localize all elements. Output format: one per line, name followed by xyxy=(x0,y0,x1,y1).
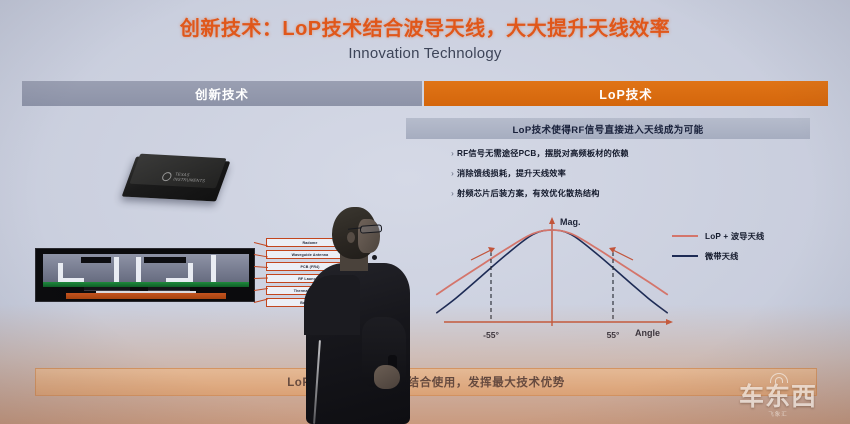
section-header-left-label: 创新技术 xyxy=(195,84,249,103)
presenter-ear xyxy=(347,232,355,243)
x-axis-label: Angle xyxy=(635,328,660,338)
list-item: › 消除馈线损耗，提升天线效率 xyxy=(448,168,788,179)
projector-warm-spill xyxy=(0,304,850,424)
beamwidth-arrow-left xyxy=(471,249,493,260)
beamwidth-arrowhead-left xyxy=(488,247,495,253)
x-tick-plus55: 55° xyxy=(607,330,620,340)
presenter-shoulder xyxy=(304,275,360,335)
watermark-sub: 飞象汇 xyxy=(726,410,830,418)
watermark-brand: 车东西 xyxy=(726,384,830,410)
slide-title-block: 创新技术：LoP技术结合波导天线，大大提升天线效率 Innovation Tec… xyxy=(0,12,850,62)
cavity-wall xyxy=(136,257,141,283)
legend-item-microstrip: 微带天线 xyxy=(672,250,802,262)
waveguide-slot xyxy=(144,257,186,263)
presenter-hand xyxy=(374,365,400,389)
list-item-label: RF信号无需途径PCB，摆脱对高频板材的依赖 xyxy=(457,148,629,159)
section-header-right: LoP技术 xyxy=(424,81,828,106)
antenna-radiation-pattern-chart: Mag. Angle -55° 55° xyxy=(430,208,680,348)
list-item: › RF信号无需途径PCB，摆脱对高频板材的依赖 xyxy=(448,148,788,159)
lop-subtitle-bar: LoP技术使得RF信号直接进入天线成为可能 xyxy=(406,118,810,139)
chevron-right-icon: › xyxy=(448,188,457,199)
beamwidth-arrow-right xyxy=(611,249,633,260)
projected-slide: 创新技术：LoP技术结合波导天线，大大提升天线效率 Innovation Tec… xyxy=(0,0,850,424)
x-axis-arrow xyxy=(666,319,673,325)
list-item: › 射频芯片后装方案，有效优化散热结构 xyxy=(448,188,788,199)
legend-swatch-lop xyxy=(672,235,698,237)
radar-module-cross-section xyxy=(35,248,255,302)
section-header-right-label: LoP技术 xyxy=(599,84,653,103)
callout-leader-line xyxy=(254,266,268,268)
list-item-label: 射频芯片后装方案，有效优化散热结构 xyxy=(457,188,600,199)
y-axis-arrow xyxy=(549,217,555,224)
ti-chip-photo: TEXAS INSTRUMENTS xyxy=(122,155,230,207)
legend-label-microstrip: 微带天线 xyxy=(705,250,739,262)
cavity-wall xyxy=(211,255,216,283)
section-header-left: 创新技术 xyxy=(22,81,422,106)
chevron-right-icon: › xyxy=(448,148,457,159)
beamwidth-arrowhead-right xyxy=(609,247,616,253)
ti-wordmark: TEXAS INSTRUMENTS xyxy=(173,172,208,184)
backcover-layer xyxy=(66,293,226,299)
y-axis-label: Mag. xyxy=(560,217,581,227)
chart-legend: LoP + 波导天线 微带天线 xyxy=(672,230,802,270)
ti-circle-mark xyxy=(161,172,173,181)
chevron-right-icon: › xyxy=(448,168,457,179)
legend-label-lop: LoP + 波导天线 xyxy=(705,230,764,242)
glasses-icon xyxy=(360,224,383,234)
lapel-microphone-icon xyxy=(372,255,377,260)
lop-subtitle-label: LoP技术使得RF信号直接进入天线成为可能 xyxy=(512,122,703,136)
pcb-layer xyxy=(43,282,249,287)
x-tick-minus55: -55° xyxy=(483,330,499,340)
page-title: 创新技术：LoP技术结合波导天线，大大提升天线效率 xyxy=(0,12,850,41)
texas-instruments-logo-icon: TEXAS INSTRUMENTS xyxy=(160,171,205,184)
bottom-summary-banner: LoP技术可与传统方案结合使用，发挥最大技术优势 xyxy=(35,368,817,396)
waveguide-slot xyxy=(81,257,111,263)
chart-svg: Mag. Angle -55° 55° xyxy=(430,208,680,348)
benefit-bullet-list: › RF信号无需途径PCB，摆脱对高频板材的依赖 › 消除馈线损耗，提升天线效率… xyxy=(448,148,788,208)
channel-watermark: 车东西 飞象汇 xyxy=(726,372,830,416)
legend-item-lop: LoP + 波导天线 xyxy=(672,230,802,242)
page-subtitle-english: Innovation Technology xyxy=(0,45,850,62)
presenter-silhouette xyxy=(300,205,425,424)
legend-swatch-microstrip xyxy=(672,255,698,257)
list-item-label: 消除馈线损耗，提升天线效率 xyxy=(457,168,566,179)
cavity-wall xyxy=(114,257,119,283)
